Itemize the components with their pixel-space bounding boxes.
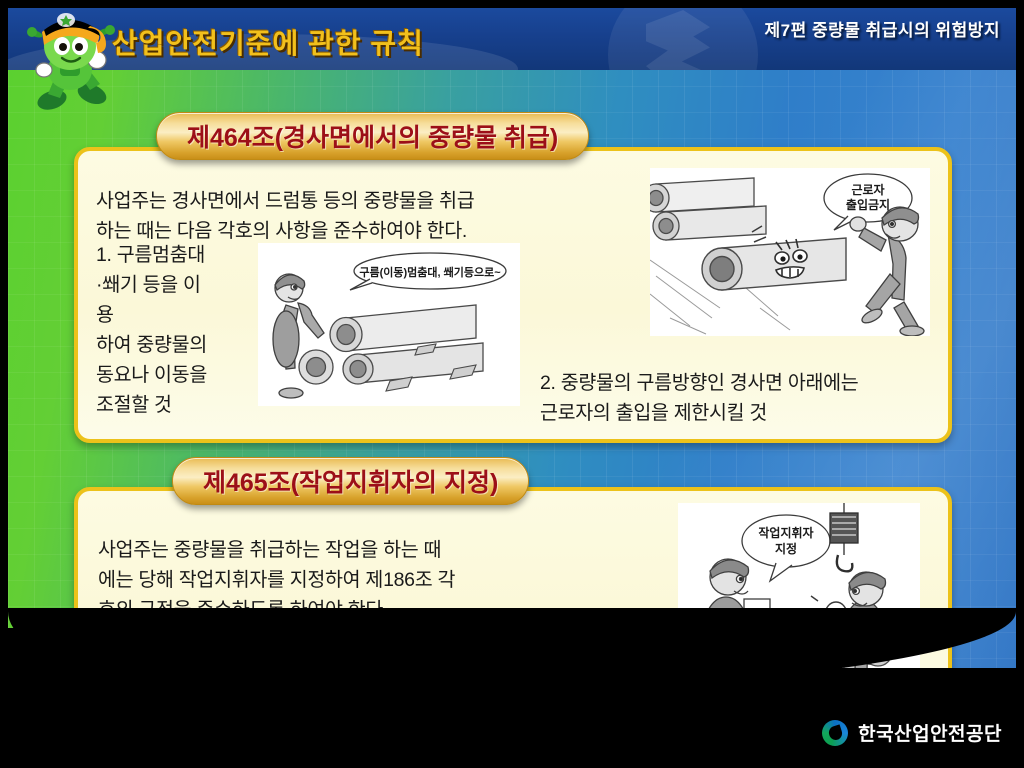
- worker-with-pipes-illustration: 구름(이동)멈춤대, 쐐기등으로~: [258, 243, 520, 406]
- kosha-watermark-icon: [608, 8, 758, 70]
- section-title-465-label: 제465조(작업지휘자의 지정): [203, 463, 498, 499]
- slide: 산업안전기준에 관한 규칙 제7편 중량물 취급시의 위험방지 제464조(경사…: [0, 0, 1024, 768]
- organization-name: 한국산업안전공단: [858, 719, 1002, 746]
- footer-branding: 한국산업안전공단: [822, 719, 1002, 746]
- rolling-pipe-on-slope-illustration: 근로자 출입금지: [650, 168, 930, 336]
- page-title: 산업안전기준에 관한 규칙: [112, 22, 424, 62]
- bubble-text-3-line2: 지정: [775, 541, 797, 556]
- bubble-text-1: 구름(이동)멈춤대, 쐐기등으로~: [359, 265, 501, 279]
- chapter-label: 제7편 중량물 취급시의 위험방지: [765, 16, 1000, 41]
- section-title-465: 제465조(작업지휘자의 지정): [172, 457, 529, 505]
- safety-mascot-icon: [18, 8, 122, 116]
- kosha-logo-icon: [822, 720, 848, 746]
- section-title-464-label: 제464조(경사면에서의 중량물 취급): [187, 118, 558, 154]
- section-title-464: 제464조(경사면에서의 중량물 취급): [156, 112, 589, 160]
- bubble-text-2-line2: 출입금지: [846, 197, 890, 212]
- section-464-item-2: 2. 중량물의 구름방향인 경사면 아래에는 근로자의 출입을 제한시킬 것: [540, 368, 940, 428]
- section-464-intro-text: 사업주는 경사면에서 드럼통 등의 중량물을 취급 하는 때는 다음 각호의 사…: [96, 186, 566, 246]
- bubble-text-2-line1: 근로자: [851, 182, 884, 197]
- slide-header: 산업안전기준에 관한 규칙 제7편 중량물 취급시의 위험방지: [8, 8, 1016, 70]
- bubble-text-3-line1: 작업지휘자: [758, 525, 813, 540]
